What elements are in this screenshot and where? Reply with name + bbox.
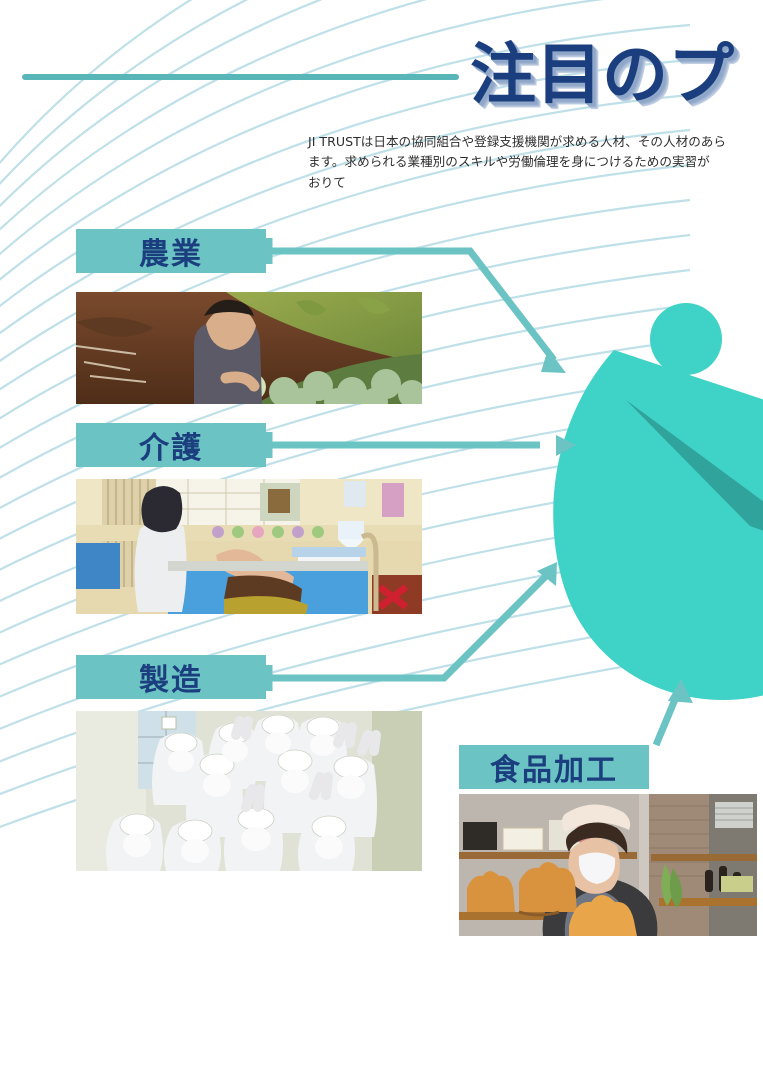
photo-food-processing: [459, 794, 757, 936]
photo-manufacturing: [76, 711, 422, 871]
page-title: 注目のプ: [470, 42, 763, 108]
category-badge-manufacturing[interactable]: 製造: [76, 655, 266, 699]
category-badge-agriculture[interactable]: 農業: [76, 229, 266, 273]
intro-paragraph: JI TRUSTは日本の協同組合や登録支援機関が求める人材、その人材のあら ます…: [308, 132, 763, 193]
photo-nursing-care: [76, 479, 422, 614]
abstract-person-logo-mark-icon: [540, 290, 763, 710]
top-divider: [22, 74, 459, 80]
poster-page: 注目のプ JI TRUSTは日本の協同組合や登録支援機関が求める人材、その人材の…: [0, 0, 763, 1080]
photo-agriculture: [76, 292, 422, 404]
category-badge-nursing-care[interactable]: 介護: [76, 423, 266, 467]
category-badge-food-processing[interactable]: 食品加工: [459, 745, 649, 789]
